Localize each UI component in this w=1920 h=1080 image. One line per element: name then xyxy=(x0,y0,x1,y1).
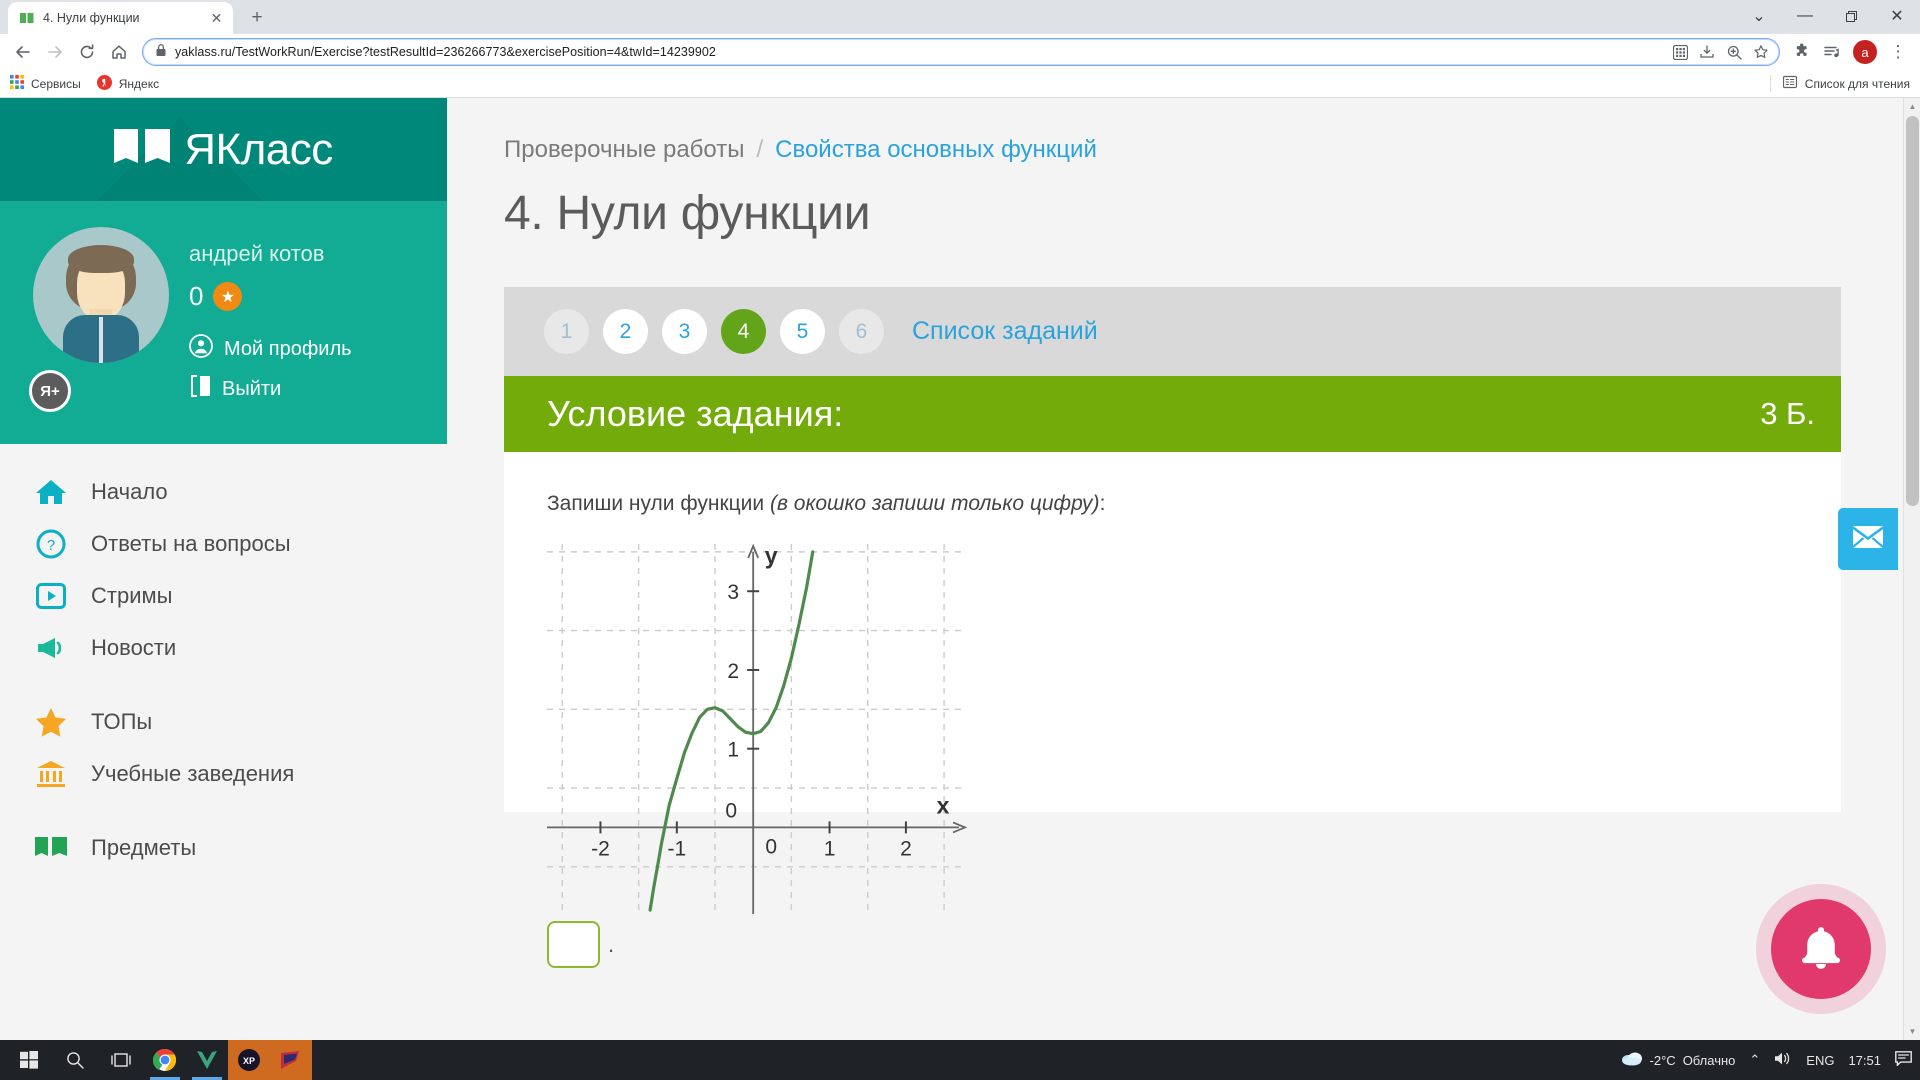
grid-apps-icon xyxy=(10,75,24,92)
omnibox-actions xyxy=(1668,40,1773,64)
logout-link[interactable]: Выйти xyxy=(189,374,352,404)
mail-button[interactable] xyxy=(1838,508,1898,570)
qr-code-icon[interactable] xyxy=(1668,40,1692,64)
task-colon: : xyxy=(1100,492,1106,515)
search-icon[interactable] xyxy=(52,1040,98,1080)
pagination-item-2[interactable]: 2 xyxy=(603,309,648,354)
sidebar-item-institutions[interactable]: Учебные заведения xyxy=(0,748,447,800)
book-icon xyxy=(33,832,69,864)
bookmark-label: Сервисы xyxy=(31,77,81,91)
reload-icon[interactable] xyxy=(72,37,102,67)
sidebar-item-home[interactable]: Начало xyxy=(0,466,447,518)
chevron-down-icon[interactable]: ⌄ xyxy=(1736,0,1782,32)
windows-taskbar: XP -2°C Облачно ⌃ ENG 17:51 xyxy=(0,1040,1920,1080)
page-scrollbar[interactable]: ▲ ▼ xyxy=(1903,98,1920,1040)
bookmark-services[interactable]: Сервисы xyxy=(10,75,81,92)
user-circle-icon xyxy=(189,334,213,364)
zoom-icon[interactable] xyxy=(1722,40,1746,64)
breadcrumb: Проверочные работы / Свойства основных ф… xyxy=(447,136,1920,164)
sidebar-item-answers[interactable]: ? Ответы на вопросы xyxy=(0,518,447,570)
browser-window: 4. Нули функции ✕ + ⌄ — ✕ xyxy=(0,0,1920,1080)
task-prompt-text: Запиши нули функции xyxy=(547,492,770,515)
cloud-icon xyxy=(1621,1051,1643,1069)
logout-door-icon xyxy=(189,374,211,404)
page-title: 4. Нули функции xyxy=(447,186,1920,241)
task-body: Запиши нули функции (в окошко запиши тол… xyxy=(504,452,1841,812)
reading-list-icon xyxy=(1783,75,1797,92)
video-play-icon xyxy=(33,580,69,612)
sidebar-item-label: ТОПы xyxy=(91,709,152,735)
answer-input[interactable] xyxy=(547,921,600,968)
bookmark-star-icon[interactable] xyxy=(1749,40,1773,64)
volume-icon[interactable] xyxy=(1774,1051,1792,1069)
page-viewport: ЯКласс Я+ андрей котов xyxy=(0,98,1920,1040)
site-sidebar: ЯКласс Я+ андрей котов xyxy=(0,98,447,1040)
svg-text:3: 3 xyxy=(727,581,739,604)
sidebar-item-label: Новости xyxy=(91,635,176,661)
task-view-icon[interactable] xyxy=(98,1040,144,1080)
star-icon xyxy=(33,706,69,738)
svg-text:2: 2 xyxy=(900,837,912,860)
tray-expand-icon[interactable]: ⌃ xyxy=(1749,1052,1760,1068)
score-value: 0 xyxy=(189,281,203,312)
svg-text:0: 0 xyxy=(765,835,777,858)
svg-text:y: y xyxy=(765,544,778,569)
sidebar-item-label: Ответы на вопросы xyxy=(91,531,291,557)
answer-suffix: . xyxy=(608,932,614,958)
reading-list-icon[interactable] xyxy=(1818,37,1846,67)
new-tab-button[interactable]: + xyxy=(243,4,271,32)
sidebar-item-streams[interactable]: Стримы xyxy=(0,570,447,622)
close-icon[interactable]: ✕ xyxy=(208,10,225,27)
pagination-item-5[interactable]: 5 xyxy=(780,309,825,354)
address-bar[interactable]: yaklass.ru/TestWorkRun/Exercise?testResu… xyxy=(142,38,1780,66)
svg-text:1: 1 xyxy=(727,739,739,762)
bookmark-label: Яндекс xyxy=(119,77,159,91)
windows-start-icon[interactable] xyxy=(6,1040,52,1080)
tab-strip: 4. Нули функции ✕ + ⌄ — ✕ xyxy=(0,0,1920,34)
bank-columns-icon xyxy=(33,758,69,790)
bookmark-yandex[interactable]: Яндекс xyxy=(97,75,159,93)
notifications-button[interactable] xyxy=(1756,884,1886,1014)
my-profile-link[interactable]: Мой профиль xyxy=(189,334,352,364)
bell-icon xyxy=(1771,899,1871,999)
graph-svg: 0123-2-1012yx xyxy=(547,544,967,914)
task-list-link[interactable]: Список заданий xyxy=(912,317,1098,346)
function-graph: 0123-2-1012yx xyxy=(547,544,1841,919)
user-name: андрей котов xyxy=(189,241,352,267)
megaphone-icon xyxy=(33,632,69,664)
sidebar-item-label: Начало xyxy=(91,479,168,505)
notification-icon[interactable] xyxy=(1895,1051,1912,1069)
breadcrumb-separator: / xyxy=(756,136,763,164)
yaklass-book-icon xyxy=(19,10,35,26)
home-icon xyxy=(33,476,69,508)
chrome-icon[interactable] xyxy=(144,1040,186,1080)
scroll-down-icon[interactable]: ▼ xyxy=(1904,1023,1920,1040)
pagination-item-1[interactable]: 1 xyxy=(544,309,589,354)
sidebar-item-news[interactable]: Новости xyxy=(0,622,447,674)
system-tray: -2°C Облачно ⌃ ENG 17:51 xyxy=(1621,1051,1912,1069)
logout-label: Выйти xyxy=(222,378,281,401)
envelope-icon xyxy=(1853,524,1883,555)
breadcrumb-root[interactable]: Проверочные работы xyxy=(504,136,744,164)
svg-text:2: 2 xyxy=(727,660,739,683)
browser-menu-icon[interactable]: ⋮ xyxy=(1884,37,1912,67)
main-content: Проверочные работы / Свойства основных ф… xyxy=(447,98,1920,1040)
window-controls: ⌄ — ✕ xyxy=(1736,0,1920,34)
yandex-icon xyxy=(97,75,112,93)
open-book-icon xyxy=(114,129,170,171)
install-icon[interactable] xyxy=(1695,40,1719,64)
svg-text:x: x xyxy=(937,792,950,818)
condition-title: Условие задания: xyxy=(547,393,843,435)
pagination-item-6[interactable]: 6 xyxy=(839,309,884,354)
temperature-value: -2°C xyxy=(1650,1053,1676,1068)
minimize-icon[interactable]: — xyxy=(1782,0,1828,32)
sidebar-item-tops[interactable]: ТОПы xyxy=(0,696,447,748)
tab-title: 4. Нули функции xyxy=(43,11,200,25)
reading-list-button[interactable]: Список для чтения xyxy=(1770,75,1910,92)
logo-text: ЯКласс xyxy=(184,125,333,175)
profile-avatar[interactable]: a xyxy=(1853,40,1877,64)
user-profile-card: Я+ андрей котов 0 ★ Мой профиль xyxy=(0,201,447,444)
sidebar-item-label: Стримы xyxy=(91,583,172,609)
maximize-icon[interactable] xyxy=(1828,0,1874,32)
task-hint-text: (в окошко запиши только цифру) xyxy=(770,492,1100,515)
weather-condition: Облачно xyxy=(1683,1053,1736,1068)
forward-icon[interactable] xyxy=(40,37,70,67)
navigation-toolbar: yaklass.ru/TestWorkRun/Exercise?testResu… xyxy=(0,34,1920,70)
task-prompt: Запиши нули функции (в окошко запиши тол… xyxy=(547,492,1841,516)
svg-text:XP: XP xyxy=(243,1056,255,1066)
svg-text:-2: -2 xyxy=(591,837,610,860)
svg-text:0: 0 xyxy=(725,799,737,822)
question-circle-icon: ? xyxy=(33,528,69,560)
exercise-pagination: 1 2 3 4 5 6 Список заданий xyxy=(504,287,1841,376)
vk-icon[interactable] xyxy=(186,1040,228,1080)
home-icon[interactable] xyxy=(104,37,134,67)
scrollbar-thumb[interactable] xyxy=(1906,116,1919,506)
svg-text:1: 1 xyxy=(824,837,836,860)
site-logo[interactable]: ЯКласс xyxy=(0,98,447,201)
back-icon[interactable] xyxy=(8,37,38,67)
condition-points: 3 Б. xyxy=(1760,396,1815,432)
sidebar-item-label: Учебные заведения xyxy=(91,761,294,787)
ya-plus-badge: Я+ xyxy=(29,370,71,412)
close-window-icon[interactable]: ✕ xyxy=(1874,0,1920,32)
user-score: 0 ★ xyxy=(189,281,352,312)
reading-list-label: Список для чтения xyxy=(1805,77,1910,91)
scroll-up-icon[interactable]: ▲ xyxy=(1904,98,1920,115)
weather-widget[interactable]: -2°C Облачно xyxy=(1621,1051,1736,1069)
svg-text:?: ? xyxy=(47,537,55,554)
lock-icon xyxy=(155,43,167,62)
bookmarks-bar: Сервисы Яндекс Список для чтения xyxy=(0,70,1920,98)
condition-header: Условие задания: 3 Б. xyxy=(504,376,1841,452)
pagination-item-3[interactable]: 3 xyxy=(662,309,707,354)
star-badge-icon: ★ xyxy=(213,282,242,311)
sidebar-item-subjects[interactable]: Предметы xyxy=(0,822,447,874)
avatar[interactable]: Я+ xyxy=(33,227,169,414)
clock[interactable]: 17:51 xyxy=(1848,1053,1881,1068)
svg-text:-1: -1 xyxy=(667,837,686,860)
url-text: yaklass.ru/TestWorkRun/Exercise?testResu… xyxy=(175,45,1660,59)
extensions-puzzle-icon[interactable] xyxy=(1788,37,1816,67)
language-indicator[interactable]: ENG xyxy=(1806,1053,1834,1068)
xp-app-icon[interactable]: XP xyxy=(228,1040,270,1080)
browser-tab[interactable]: 4. Нули функции ✕ xyxy=(8,2,233,34)
sidebar-nav: Начало ? Ответы на вопросы Стримы xyxy=(0,444,447,1040)
my-profile-label: Мой профиль xyxy=(224,338,352,361)
flag-app-icon[interactable] xyxy=(270,1040,312,1080)
sidebar-item-label: Предметы xyxy=(91,835,196,861)
breadcrumb-current[interactable]: Свойства основных функций xyxy=(775,136,1097,164)
pagination-item-4[interactable]: 4 xyxy=(721,309,766,354)
answer-area: . xyxy=(547,921,1841,968)
